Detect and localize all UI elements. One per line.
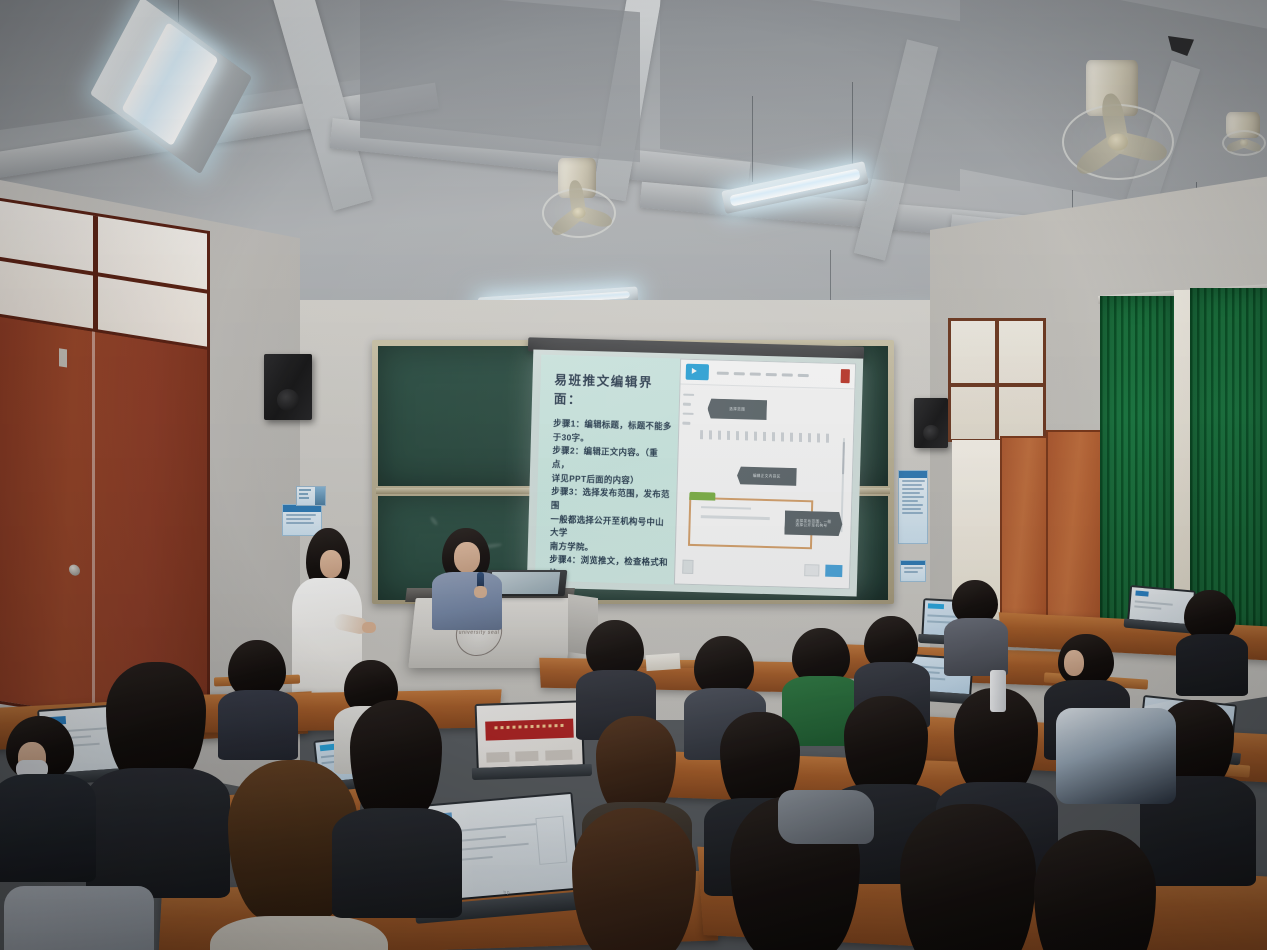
editor-footer bbox=[682, 557, 843, 582]
hp-logo-icon: hp bbox=[503, 890, 510, 897]
slide-step-4: 步骤4：浏览推文，检查格式和校 bbox=[549, 553, 669, 584]
student bbox=[0, 716, 86, 866]
backpack bbox=[1056, 708, 1176, 804]
light-wire bbox=[852, 82, 853, 170]
speaker-face bbox=[454, 542, 480, 573]
student bbox=[860, 616, 922, 708]
jacket-on-desk bbox=[4, 886, 154, 950]
callout-publish-scope: 选择发布范围，一般 选择公开至机构号 bbox=[784, 510, 842, 536]
publish-button[interactable] bbox=[825, 565, 843, 578]
ceiling-fan bbox=[1058, 60, 1178, 190]
student bbox=[582, 620, 648, 716]
slide-text-column: 易班推文编辑界面： 步骤1：编辑标题，标题不能多于30字。 步骤2：编辑正文内容… bbox=[535, 355, 680, 584]
student bbox=[1180, 590, 1240, 676]
classroom-photo: 易班推文编辑界面： 步骤1：编辑标题，标题不能多于30字。 步骤2：编辑正文内容… bbox=[0, 0, 1267, 950]
laptop[interactable] bbox=[475, 700, 592, 790]
ceiling-fan bbox=[540, 158, 618, 244]
student bbox=[340, 700, 450, 880]
classroom-door-right-panel[interactable] bbox=[1046, 430, 1104, 646]
speaking-presenter bbox=[430, 528, 504, 618]
presentation-slide: 易班推文编辑界面： 步骤1：编辑标题，标题不能多于30字。 步骤2：编辑正文内容… bbox=[535, 355, 857, 589]
wall-notice-small bbox=[900, 560, 926, 582]
callout-select-range: 选择范围 bbox=[707, 399, 767, 421]
student-torso bbox=[86, 768, 230, 898]
student bbox=[222, 640, 292, 736]
ceiling-panel bbox=[360, 0, 640, 162]
slide-title: 易班推文编辑界面： bbox=[554, 369, 674, 410]
window-curtain bbox=[1190, 288, 1267, 640]
student-torso bbox=[1176, 634, 1248, 696]
jacket-on-desk bbox=[778, 790, 874, 844]
wall-notice-board bbox=[898, 470, 928, 544]
light-wire bbox=[178, 0, 179, 22]
window-glass bbox=[1174, 290, 1190, 610]
editor-toolbar bbox=[700, 430, 829, 443]
cancel-button[interactable] bbox=[804, 564, 819, 577]
door-knob[interactable] bbox=[69, 564, 80, 577]
right-window-upper bbox=[948, 318, 1046, 442]
student bbox=[96, 662, 216, 862]
student bbox=[1022, 830, 1172, 950]
callout-edit-body: 编辑正文内容区 bbox=[737, 467, 797, 487]
wall-speaker-right bbox=[914, 398, 948, 448]
student bbox=[560, 808, 710, 950]
speaker-body bbox=[432, 572, 502, 630]
editor-avatar bbox=[841, 369, 850, 383]
wall-id-card bbox=[296, 486, 326, 506]
editor-topbar bbox=[680, 360, 855, 389]
student-torso bbox=[944, 618, 1008, 676]
door-hinge bbox=[59, 348, 67, 367]
ceiling-fan-mount bbox=[1222, 112, 1266, 154]
presenter-hand bbox=[362, 622, 376, 633]
student-torso bbox=[218, 690, 298, 760]
editor-nav bbox=[717, 371, 841, 377]
slide-step-3-cont: 一般都选择公开至机构号中山大学 bbox=[550, 512, 670, 543]
notebook bbox=[645, 653, 680, 671]
slide-step-3: 步骤3：选择发布范围，发布范围 bbox=[551, 485, 671, 516]
light-wire bbox=[752, 96, 753, 182]
presenter-face bbox=[320, 550, 342, 578]
editor-scrollbar[interactable] bbox=[840, 438, 845, 532]
projection-screen: 易班推文编辑界面： 步骤1：编辑标题，标题不能多于30字。 步骤2：编辑正文内容… bbox=[527, 349, 864, 596]
wall-speaker-left bbox=[264, 354, 312, 420]
thermos bbox=[990, 670, 1006, 712]
form-tab bbox=[689, 491, 716, 500]
editor-footer-thumb bbox=[682, 560, 694, 574]
slide-screenshot-column: 选择范围 编辑正文内容区 选择发布范围，一般 选择公开至机构号 bbox=[674, 359, 857, 589]
student-torso bbox=[0, 774, 96, 882]
podium-emblem-text: university seal bbox=[458, 630, 499, 636]
editor-screenshot: 选择范围 编辑正文内容区 选择发布范围，一般 选择公开至机构号 bbox=[674, 359, 857, 589]
slide-step-1: 步骤1：编辑标题，标题不能多于30字。 bbox=[553, 417, 673, 448]
yiban-logo-icon bbox=[686, 363, 709, 380]
student-torso bbox=[210, 916, 388, 950]
student-torso bbox=[332, 808, 462, 918]
student bbox=[950, 580, 1002, 660]
slide-step-2: 步骤2：编辑正文内容。（重点， bbox=[552, 444, 672, 475]
speaker-hand bbox=[474, 586, 487, 598]
editor-side-labels bbox=[682, 393, 699, 431]
